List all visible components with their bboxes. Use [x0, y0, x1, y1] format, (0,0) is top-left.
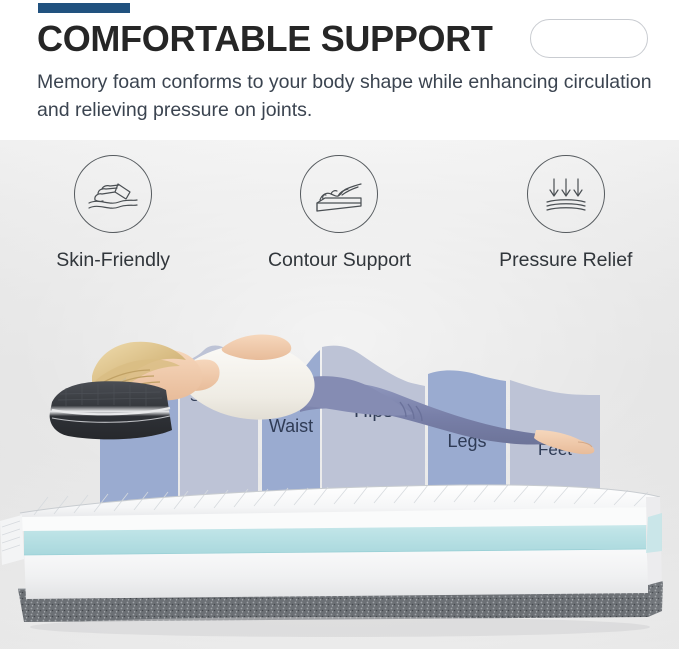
feature-row: Skin-Friendly — [0, 155, 679, 295]
feature-item-contour-support: Contour Support — [226, 155, 452, 295]
foot — [534, 430, 594, 454]
title-badge-pill — [530, 19, 648, 58]
accent-bar — [38, 3, 130, 13]
memory-foam-pillow — [50, 381, 172, 439]
scene: Skin-Friendly — [0, 133, 679, 649]
downward-arrows-pressure-icon — [527, 155, 605, 233]
feature-label: Contour Support — [268, 249, 411, 272]
feature-item-pressure-relief: Pressure Relief — [453, 155, 679, 295]
person-on-mattress-icon — [300, 155, 378, 233]
product-feature-page: COMFORTABLE SUPPORT Memory foam conforms… — [0, 0, 679, 649]
feature-label: Pressure Relief — [499, 249, 632, 272]
page-title: COMFORTABLE SUPPORT — [37, 21, 493, 57]
feature-item-skin-friendly: Skin-Friendly — [0, 155, 226, 295]
header: COMFORTABLE SUPPORT Memory foam conforms… — [0, 0, 679, 140]
person-illustration — [0, 318, 679, 518]
hand-on-foam-icon — [74, 155, 152, 233]
feature-label: Skin-Friendly — [56, 249, 170, 272]
page-subtitle: Memory foam conforms to your body shape … — [37, 68, 652, 124]
